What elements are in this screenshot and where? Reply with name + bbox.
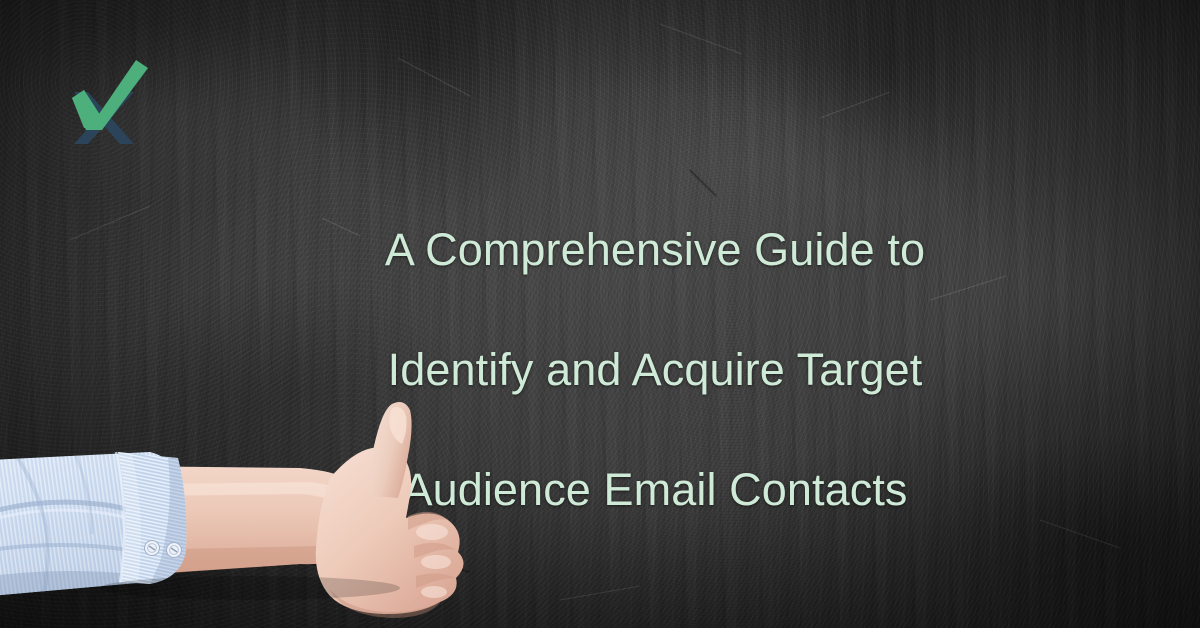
thumbs-up-hand-photo: [0, 400, 470, 628]
headline-line-1: A Comprehensive Guide to: [180, 220, 1130, 280]
cuff-button-upper: [145, 541, 160, 556]
banner-canvas: A Comprehensive Guide to Identify and Ac…: [0, 0, 1200, 628]
cuff-button-lower: [167, 543, 182, 558]
check-x-logo[interactable]: [58, 58, 150, 150]
arm-shadow: [100, 576, 400, 600]
headline-line-2: Identify and Acquire Target: [180, 340, 1130, 400]
